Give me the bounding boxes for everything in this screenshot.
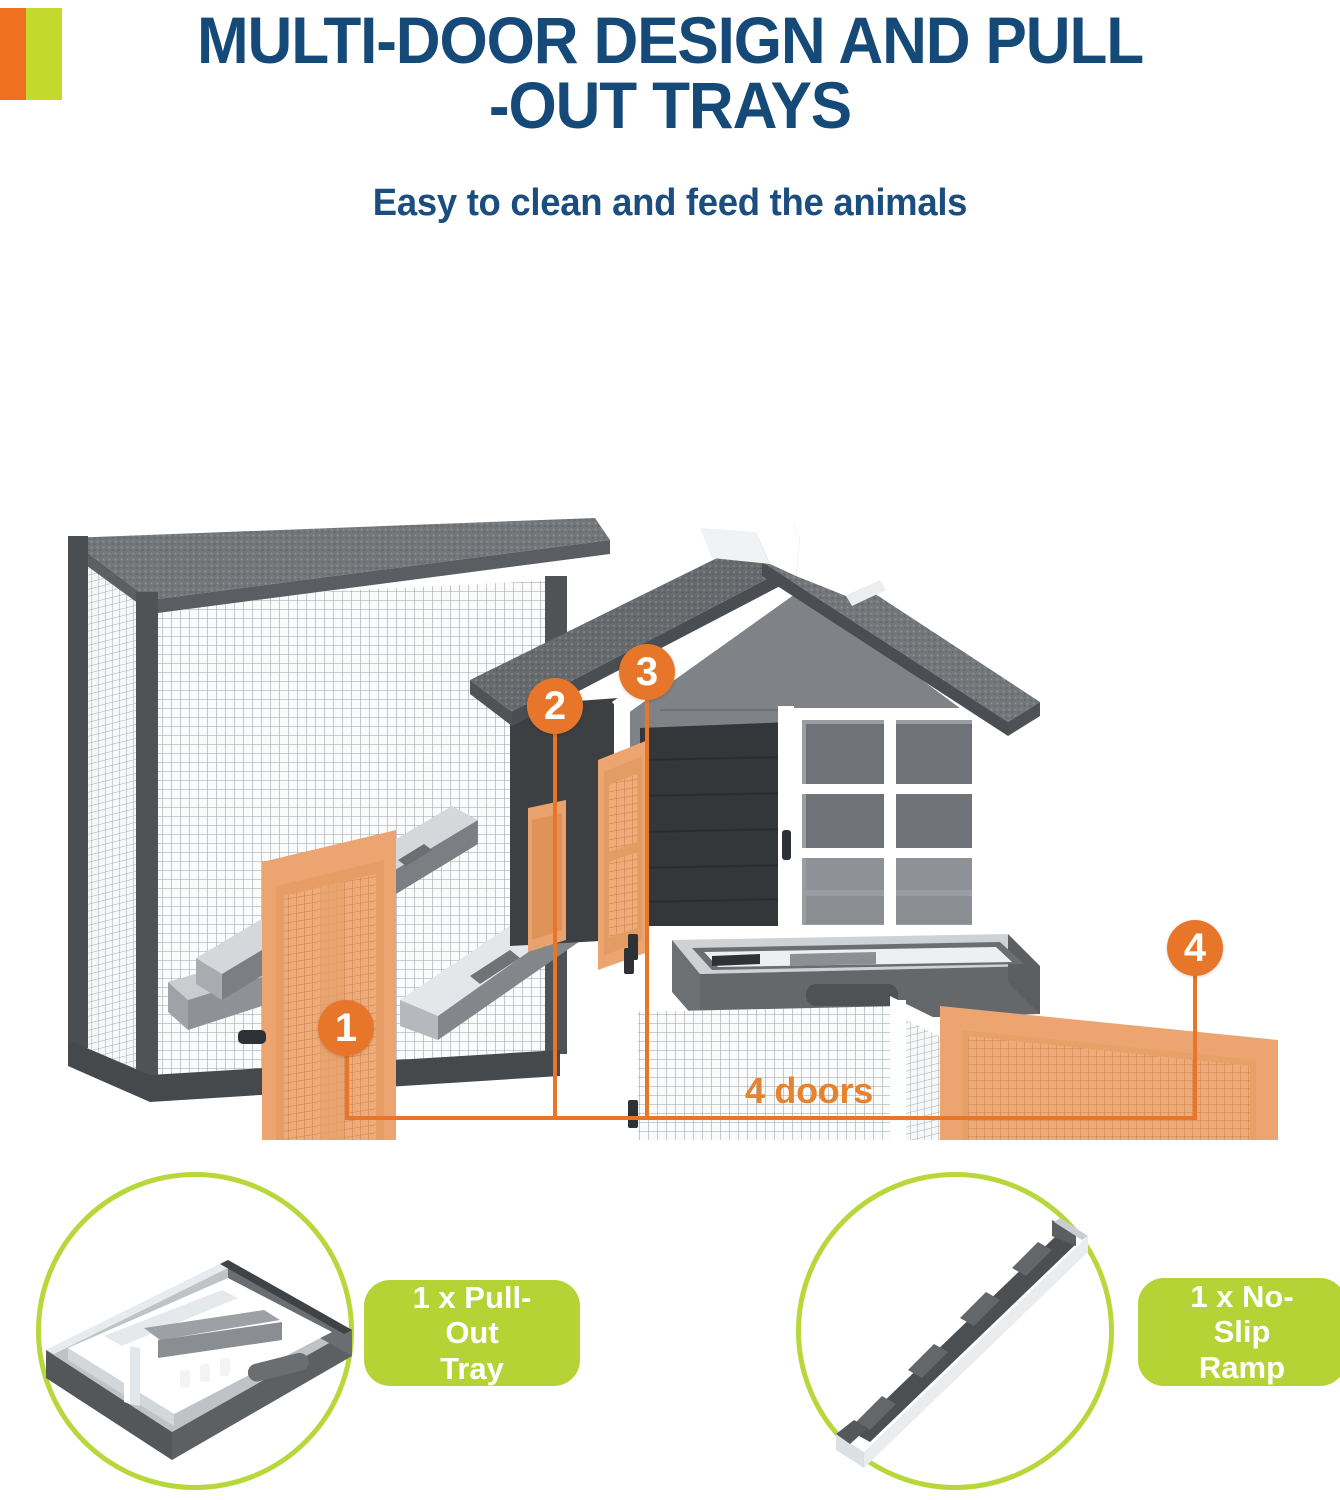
pull-out-tray-icon <box>32 1198 362 1478</box>
leader-line-2 <box>553 730 557 1120</box>
page-title: MULTI-DOOR DESIGN AND PULL -OUT TRAYS <box>40 8 1300 139</box>
infographic-page: MULTI-DOOR DESIGN AND PULL -OUT TRAYS Ea… <box>0 0 1340 1500</box>
feature-label-ramp: 1 x No-Slip Ramp <box>1138 1278 1340 1386</box>
callout-badge-3: 3 <box>619 644 675 700</box>
page-subtitle: Easy to clean and feed the animals <box>27 182 1313 225</box>
feature-label-tray: 1 x Pull-Out Tray <box>364 1280 580 1386</box>
leader-line-3 <box>645 698 649 1120</box>
no-slip-ramp-icon <box>808 1190 1118 1480</box>
feature-pull-out-tray: 1 x Pull-Out Tray <box>0 1160 660 1500</box>
accent-bar-orange-stripe <box>0 8 26 100</box>
callout-badge-2: 2 <box>527 678 583 734</box>
doors-count-label: 4 doors <box>745 1070 873 1112</box>
feature-no-slip-ramp: 1 x No-Slip Ramp <box>760 1160 1340 1500</box>
leader-line-4 <box>1193 972 1197 1120</box>
product-illustration <box>0 240 1340 1140</box>
callout-badge-1: 1 <box>318 1000 374 1056</box>
callout-badge-4: 4 <box>1167 920 1223 976</box>
doors-bracket <box>345 1116 1195 1120</box>
